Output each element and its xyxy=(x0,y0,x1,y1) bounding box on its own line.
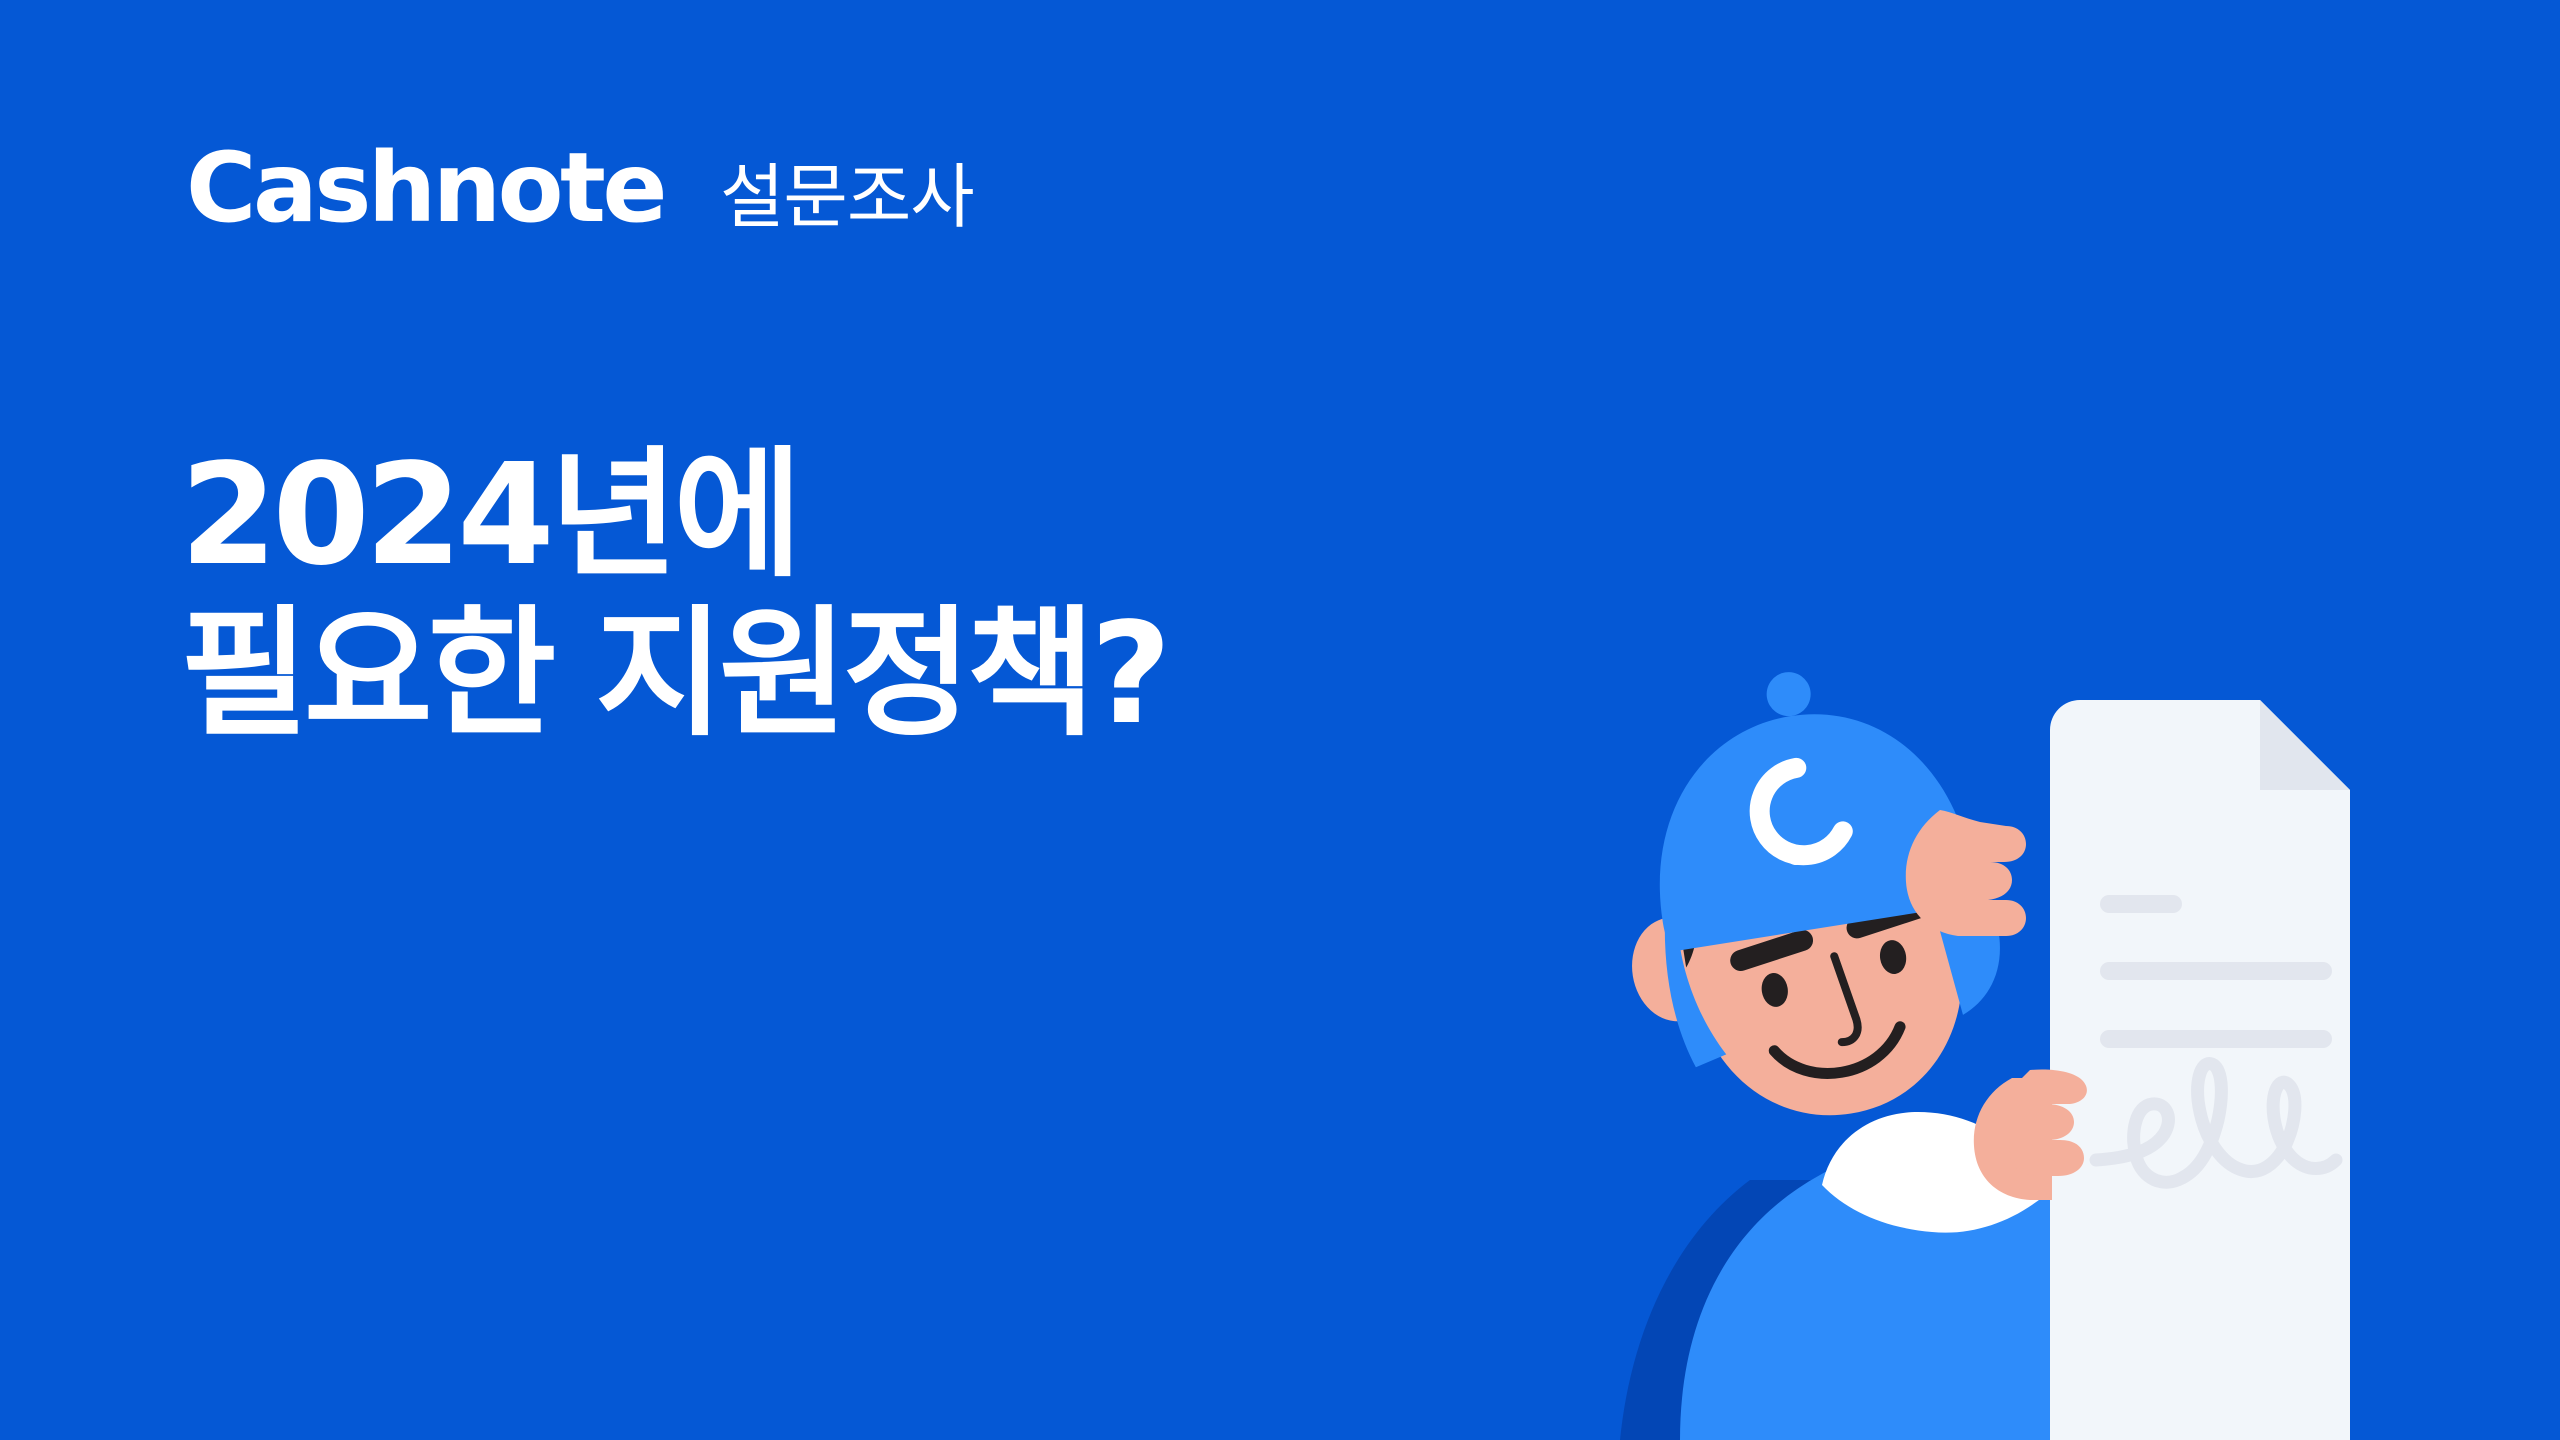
document-line-2 xyxy=(2100,962,2332,980)
cap-brim xyxy=(1928,849,2010,1016)
left-eyebrow xyxy=(1727,927,1815,974)
shirt-shadow xyxy=(1620,1180,1990,1440)
document-page xyxy=(2050,700,2350,1440)
nose xyxy=(1828,954,1860,1042)
promo-banner: Cashnote 설문조사 2024년에 필요한 지원정책? xyxy=(0,0,2560,1440)
document-fold xyxy=(2260,700,2350,790)
shirt-collar xyxy=(1822,1112,2044,1233)
left-eye xyxy=(1759,971,1790,1009)
left-sideburn xyxy=(1676,897,1708,968)
smile xyxy=(1774,1027,1906,1082)
survey-document xyxy=(2050,700,2350,1440)
headline-line-1: 2024년에 xyxy=(180,436,1167,596)
hair xyxy=(1657,740,1949,940)
cap xyxy=(1624,646,2012,1070)
cap-button xyxy=(1763,669,1813,719)
cashnote-logo-wordmark: Cashnote xyxy=(186,140,664,236)
lower-hand xyxy=(1974,1069,2087,1200)
upper-hand xyxy=(1906,810,2026,936)
headline-line-2: 필요한 지원정책? xyxy=(180,595,1167,755)
left-ear xyxy=(1625,911,1724,1027)
survey-subtitle: 설문조사 xyxy=(720,162,974,232)
illustration-person-with-document xyxy=(1560,640,2560,1440)
right-ear xyxy=(1900,860,1995,971)
brand-row: Cashnote 설문조사 xyxy=(186,140,974,236)
person-body xyxy=(1620,1112,2180,1440)
cap-logo-c-icon xyxy=(1753,762,1847,869)
document-line-3 xyxy=(2100,1030,2332,1048)
person-head xyxy=(1599,706,2015,1144)
shirt xyxy=(1680,1136,2180,1440)
document-signature xyxy=(2096,1064,2336,1183)
right-sideburn xyxy=(1920,854,1952,925)
cap-crown xyxy=(1634,692,1978,952)
face xyxy=(1656,711,1983,1134)
document-line-1 xyxy=(2100,895,2182,913)
right-eyebrow xyxy=(1844,895,1932,942)
right-eye xyxy=(1878,938,1909,976)
cap-side xyxy=(1659,916,1727,1069)
page-title: 2024년에 필요한 지원정책? xyxy=(180,436,1167,755)
